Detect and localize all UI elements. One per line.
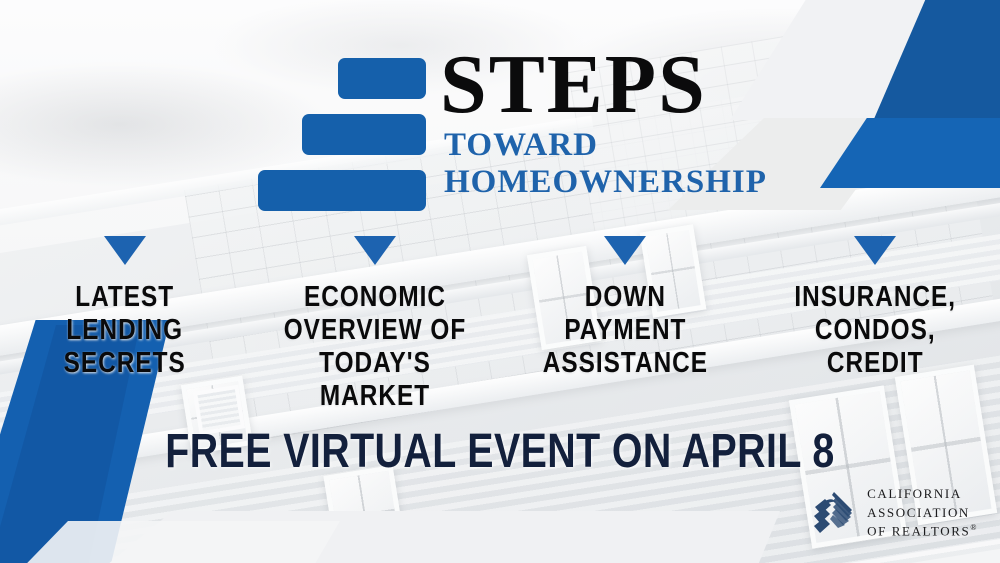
steps-wordmark: STEPS TOWARD HOMEOWNERSHIP (440, 46, 767, 201)
logo-subtitle-line-2: HOMEOWNERSHIP (444, 164, 767, 201)
topic-column-insurance-condos-credit: INSURANCE, CONDOS, CREDIT (750, 236, 1000, 413)
topic-columns: LATEST LENDING SECRETS ECONOMIC OVERVIEW… (0, 236, 1000, 413)
car-line-2: ASSOCIATION (867, 504, 978, 522)
triangle-down-icon (104, 236, 146, 265)
car-logo: CALIFORNIA ASSOCIATION OF REALTORS® (805, 485, 978, 541)
topic-label: LATEST LENDING SECRETS (64, 281, 186, 380)
logo-subtitle: TOWARD HOMEOWNERSHIP (444, 127, 767, 201)
promo-graphic: STEPS TOWARD HOMEOWNERSHIP LATEST LENDIN… (0, 0, 1000, 563)
steps-logo: STEPS TOWARD HOMEOWNERSHIP (258, 52, 767, 211)
car-line-3: OF REALTORS® (867, 522, 978, 541)
topic-column-latest-lending-secrets: LATEST LENDING SECRETS (0, 236, 250, 413)
logo-subtitle-line-1: TOWARD (444, 127, 767, 164)
triangle-down-icon (854, 236, 896, 265)
car-diamond-emblem-icon (805, 487, 857, 539)
steps-bar-middle (302, 114, 426, 155)
logo-title: STEPS (440, 46, 767, 123)
steps-bar-top (338, 58, 426, 99)
topic-label: INSURANCE, CONDOS, CREDIT (794, 281, 956, 380)
event-headline: FREE VIRTUAL EVENT ON APRIL 8 (90, 424, 910, 479)
steps-bars-icon (258, 52, 426, 211)
steps-bar-bottom (258, 170, 426, 211)
topic-label: ECONOMIC OVERVIEW OF TODAY'S MARKET (275, 281, 475, 413)
triangle-down-icon (354, 236, 396, 265)
car-line-1: CALIFORNIA (867, 485, 978, 503)
topic-column-down-payment-assistance: DOWN PAYMENT ASSISTANCE (500, 236, 750, 413)
car-logo-text: CALIFORNIA ASSOCIATION OF REALTORS® (867, 485, 978, 541)
car-line-3-text: OF REALTORS (867, 524, 970, 539)
registered-mark: ® (970, 523, 978, 532)
topic-label: DOWN PAYMENT ASSISTANCE (542, 281, 707, 380)
topic-column-economic-overview: ECONOMIC OVERVIEW OF TODAY'S MARKET (250, 236, 500, 413)
triangle-down-icon (604, 236, 646, 265)
